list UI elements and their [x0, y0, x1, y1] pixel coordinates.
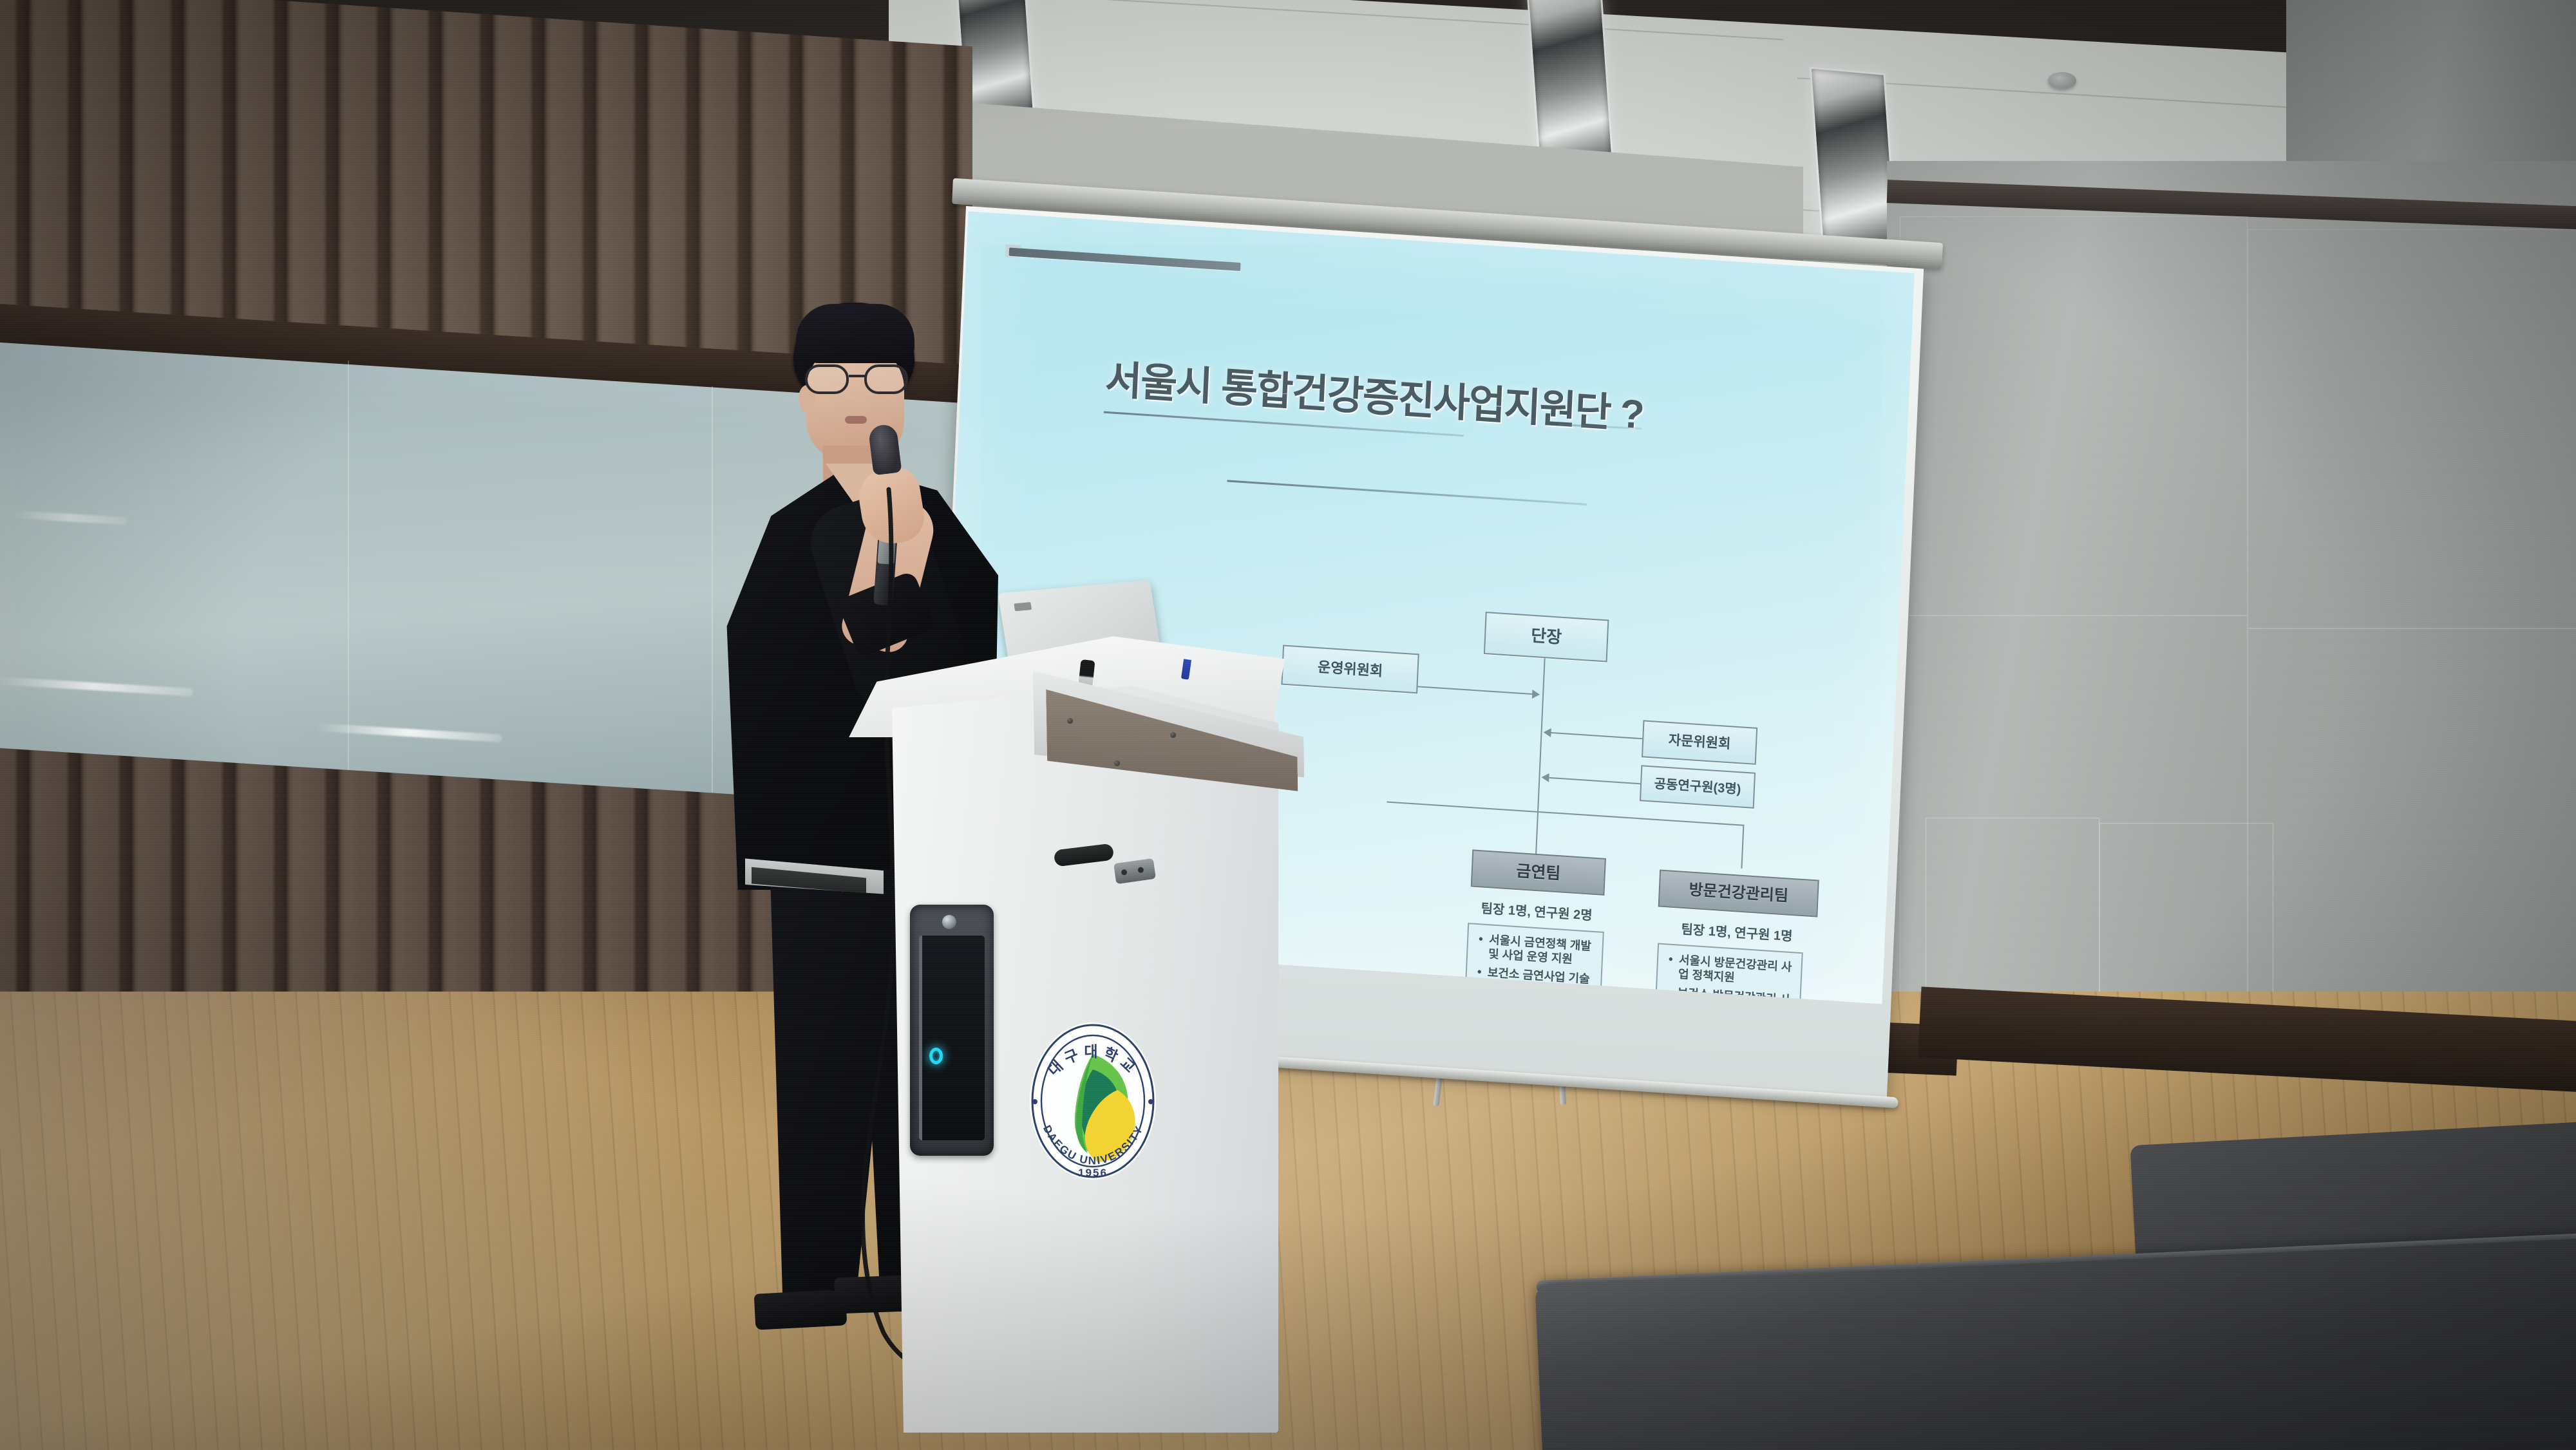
laptop-logo-icon: [1014, 602, 1032, 611]
university-logo: 대구대학교 DAEGU UNIVERSITY 1956: [1021, 1014, 1166, 1188]
eyeglasses: [805, 364, 914, 394]
orgchart-arrow: [1543, 728, 1551, 737]
orgchart-node-head: 단장: [1484, 612, 1609, 662]
list-item: 서울시 방문건강관리 사업 정책지원: [1665, 952, 1795, 989]
list-item: 서울시 금연정책 개발 및 사업 운영 지원: [1475, 932, 1596, 968]
orgchart-connector: [1741, 825, 1744, 869]
orgchart-bus: [1387, 802, 1744, 826]
hair-fringe: [796, 304, 914, 363]
mouth: [845, 416, 867, 424]
lens-right: [864, 364, 908, 394]
orgchart-team-title-smoking-cessation: 금연팀: [1471, 849, 1606, 896]
orgchart-arrow: [1541, 773, 1549, 782]
lens-left: [805, 364, 849, 394]
seal-founding-year: 1956: [1078, 1167, 1108, 1179]
orgchart-team-staffing: 팀장 1명, 연구원 2명: [1466, 897, 1608, 925]
slide-title-rule: [1227, 480, 1587, 505]
wall-panel: [2248, 229, 2576, 628]
slide-header-bar: [1009, 248, 1241, 272]
podium-computer[interactable]: [910, 905, 994, 1156]
orgchart-team-duties: 서울시 방문건강관리 사업 정책지원 보건소 방문건강관리 사업 기술지원 담당…: [1653, 943, 1803, 1004]
wall-panel: [2248, 628, 2576, 1015]
lock-knob-icon[interactable]: [942, 915, 956, 929]
orgchart-connector: [1417, 686, 1535, 695]
wall-panel: [1900, 216, 2248, 616]
lectern-podium: 대구대학교 DAEGU UNIVERSITY 1956: [763, 634, 1362, 1450]
smoke-detector-icon: [2048, 72, 2076, 89]
screw-icon: [1067, 718, 1073, 724]
orgchart-team-title-home-visit-health: 방문건강관리팀: [1658, 869, 1819, 917]
orgchart-team-staffing: 팀장 1명, 연구원 1명: [1657, 917, 1817, 946]
power-led-indicator: [929, 1048, 943, 1064]
orgchart-connector: [1551, 732, 1642, 739]
orgchart-connector: [1535, 658, 1546, 855]
screw-icon: [1114, 760, 1120, 766]
lecture-hall-scene: 서울시 통합건강증진사업지원단 ? 단장 운영위원회 자문위원회 공동연구: [0, 0, 2576, 1450]
screw-icon: [1170, 732, 1176, 738]
orgchart-team-duties: 서울시 금연정책 개발 및 사업 운영 지원 보건소 금연사업 기술 지원 담당…: [1463, 923, 1604, 1004]
computer-front-panel: [919, 936, 985, 1140]
list-item: 보건소 방문건강관리 사업 기술지원: [1663, 985, 1794, 1004]
glasses-bridge: [849, 375, 866, 377]
list-item: 담당인력 교육 훈련: [1473, 998, 1593, 1004]
whiteboard-divider: [348, 361, 349, 811]
orgchart-node-joint-researchers: 공동연구원(3명): [1640, 765, 1756, 809]
orgchart-connector: [1549, 777, 1640, 784]
list-item: 보건소 금연사업 기술 지원: [1473, 965, 1595, 1001]
orgchart-arrow: [1532, 690, 1540, 699]
orgchart-node-advisory-committee: 자문위원회: [1642, 720, 1757, 765]
daegu-university-seal-icon: 대구대학교 DAEGU UNIVERSITY 1956: [1021, 1014, 1166, 1188]
